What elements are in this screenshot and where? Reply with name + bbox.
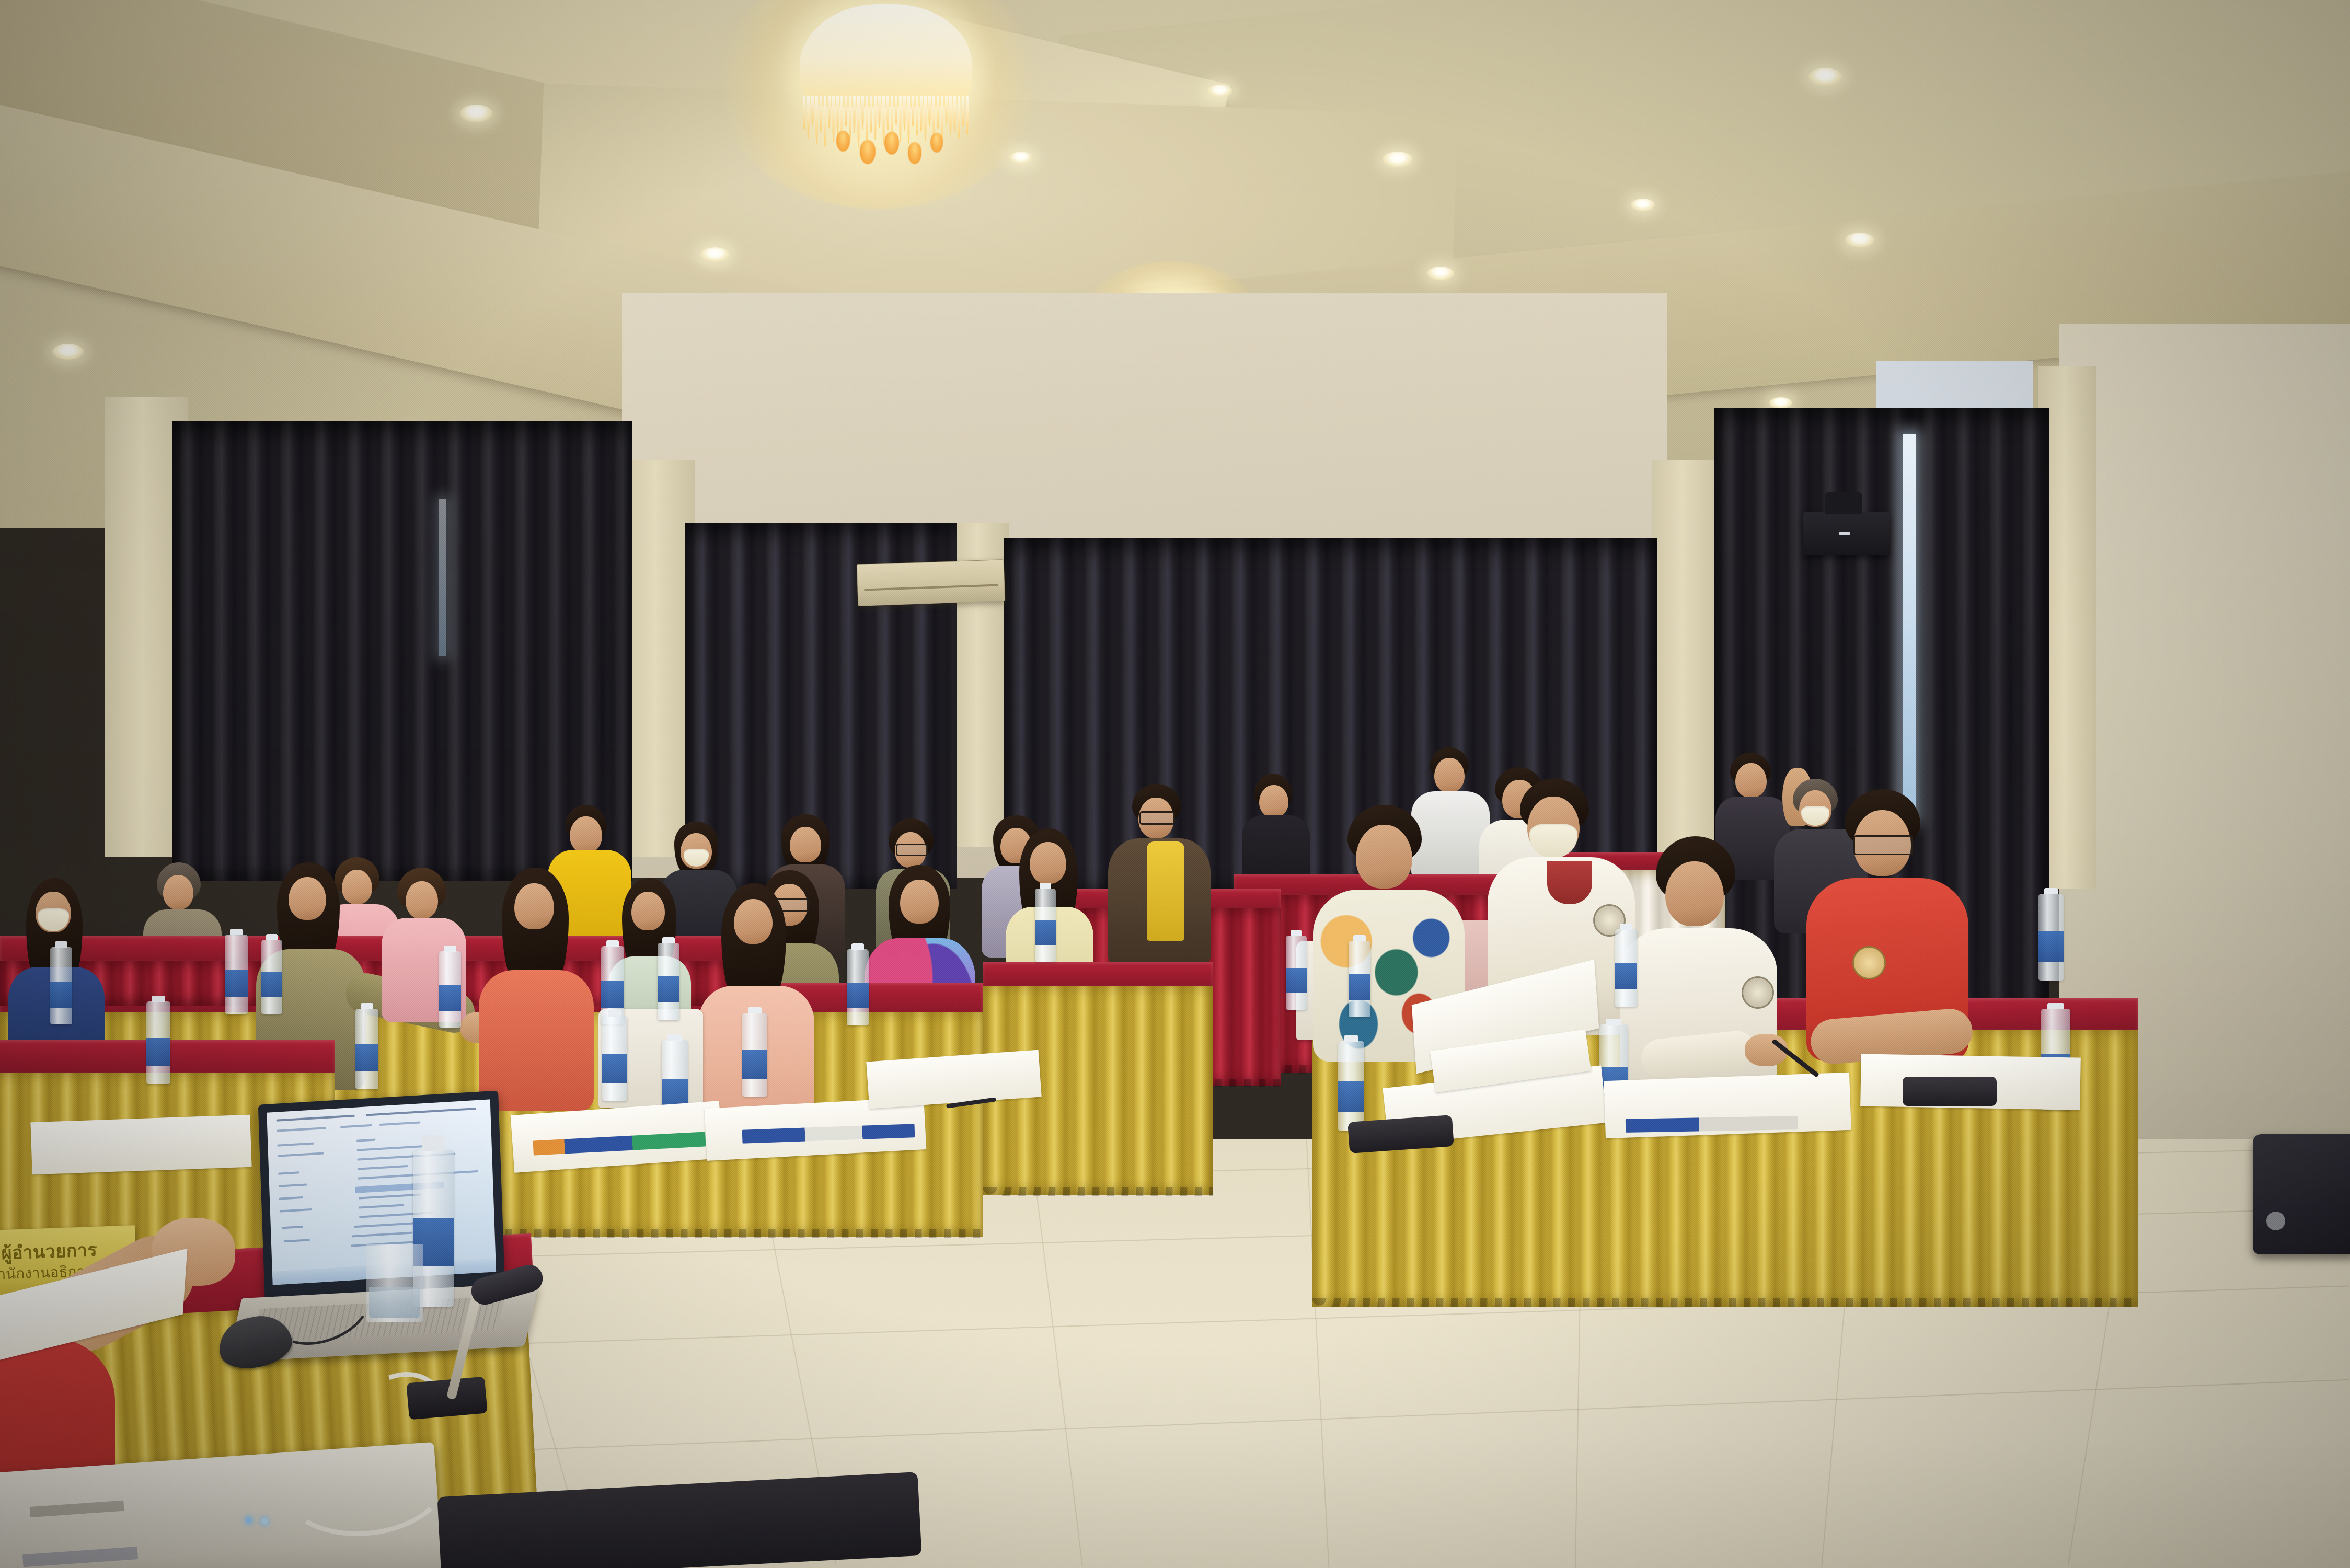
downlight-11	[1808, 68, 1842, 86]
doc-line	[284, 1239, 310, 1242]
wall-speaker	[1803, 512, 1890, 555]
doc-line	[359, 1204, 404, 1208]
downlight-16	[1207, 85, 1232, 97]
downlight-4	[700, 247, 730, 262]
phone-or-case[interactable]	[1903, 1077, 1997, 1106]
head	[900, 880, 939, 924]
bottle-label	[1286, 968, 1307, 993]
speaker-badge	[1839, 532, 1850, 535]
bottle-cap	[608, 1010, 622, 1017]
doc-line	[358, 1165, 408, 1170]
bottle-label	[1035, 920, 1056, 945]
downlight-12	[1845, 233, 1874, 247]
head	[1735, 763, 1767, 798]
water-bottle[interactable]	[1286, 936, 1307, 1010]
nameplate-line-1: ผู้อำนวยการ	[1, 1239, 98, 1265]
downlight-14	[1769, 397, 1792, 409]
bottle-label	[355, 1044, 378, 1071]
eyeglasses	[1139, 811, 1175, 825]
water-bottle[interactable]	[1349, 941, 1370, 1017]
table-top	[983, 962, 1213, 986]
bottle-cap	[361, 1003, 374, 1009]
bottle-label	[1615, 963, 1637, 989]
column-right	[1652, 460, 1720, 857]
bottle-label	[439, 985, 461, 1011]
bottle-label	[261, 972, 282, 997]
torso	[1411, 791, 1490, 880]
eyeglasses	[896, 844, 928, 856]
bottle-label	[1349, 974, 1370, 1000]
projector-status-led	[261, 1517, 268, 1525]
air-conditioner	[857, 559, 1006, 606]
bottle-label	[2038, 931, 2064, 962]
bottle-cap	[230, 929, 243, 935]
head	[514, 883, 554, 929]
ac-vent-slot	[864, 584, 998, 591]
bag-zipper-pull	[2266, 1212, 2285, 1230]
shirt-yellow	[1147, 841, 1184, 941]
doc-line	[356, 1139, 375, 1142]
downlight-1	[460, 105, 492, 122]
downlight-2	[52, 344, 84, 360]
speaker-mount-bracket	[1825, 492, 1862, 514]
water-bottle[interactable]	[225, 935, 248, 1014]
head	[406, 881, 438, 919]
meeting-room-photo: ผู้อำนวยการ สำนักงานอธิการบดี	[0, 0, 2350, 1568]
doc-line	[279, 1196, 303, 1200]
doc-line	[379, 1121, 420, 1126]
downlight-8	[1427, 267, 1454, 280]
head	[163, 875, 193, 909]
phone-or-case[interactable]	[406, 1377, 488, 1420]
bottle-cap	[1606, 1019, 1621, 1025]
bottle-cap	[606, 940, 619, 947]
chandelier-front-amber-3	[884, 132, 899, 155]
downlight-7	[1383, 152, 1413, 167]
chandelier-front-amber-4	[908, 142, 921, 164]
bottle-label	[658, 976, 679, 1002]
doc-line	[366, 1108, 476, 1116]
bottle-cap	[662, 937, 675, 943]
bottle-cap	[422, 1135, 445, 1151]
floor-bag[interactable]	[2253, 1134, 2350, 1254]
water-bottle[interactable]	[439, 951, 461, 1028]
bottle-cap	[1291, 930, 1302, 936]
water-bottle[interactable]	[1338, 1041, 1364, 1131]
chandelier-front-amber-1	[836, 131, 850, 152]
chandelier-front-amber-5	[930, 133, 943, 153]
projector-label	[22, 1547, 138, 1567]
bottle-cap	[266, 934, 278, 940]
doc-line	[277, 1115, 355, 1122]
water-bottle[interactable]	[50, 947, 72, 1024]
water-bottle[interactable]	[261, 940, 282, 1014]
table-skirt-scallop	[1312, 1298, 2138, 1307]
torso-uniform	[1620, 928, 1777, 1101]
head	[1030, 842, 1066, 884]
doc-line	[278, 1152, 324, 1157]
doc-line	[277, 1143, 314, 1147]
bottle-label	[601, 981, 624, 1008]
collar-red-inner	[1547, 861, 1592, 904]
bottle-cap	[851, 943, 864, 950]
column-mid-left	[622, 460, 695, 857]
bottle-cap	[2044, 888, 2058, 894]
water-bottle[interactable]	[658, 943, 679, 1020]
bottle-cap	[1353, 935, 1366, 941]
doc-line	[280, 1208, 312, 1213]
downlight-13	[1631, 199, 1655, 211]
torso	[479, 970, 594, 1111]
meeting-papers[interactable]	[30, 1115, 251, 1175]
head	[790, 827, 821, 862]
water-bottle[interactable]	[1615, 929, 1637, 1007]
water-bottle[interactable]	[355, 1009, 378, 1089]
head	[1356, 825, 1412, 889]
doc-line	[282, 1226, 303, 1229]
drinking-glass[interactable]	[366, 1244, 423, 1322]
doc-line	[359, 1193, 421, 1199]
bottle-cap	[2047, 1003, 2064, 1009]
head	[289, 877, 326, 920]
bottle-label	[1338, 1081, 1364, 1112]
bottle-cap	[748, 1007, 762, 1013]
bottle-label	[146, 1038, 170, 1066]
curtain-left	[172, 421, 632, 881]
doc-line	[278, 1171, 299, 1174]
table-skirt-scallop	[983, 1187, 1213, 1196]
doc-line	[352, 1232, 413, 1238]
water-bottle[interactable]	[146, 1001, 170, 1084]
head	[734, 899, 773, 944]
bottle-cap	[152, 996, 165, 1002]
eyeglasses	[1853, 835, 1913, 855]
water-bottle[interactable]	[1035, 889, 1056, 962]
uniform-emblem	[1742, 976, 1774, 1009]
head	[1665, 861, 1724, 926]
bottle-cap	[1040, 883, 1051, 889]
bottle-label	[602, 1054, 627, 1083]
head	[570, 816, 602, 853]
water-bottle[interactable]	[847, 949, 869, 1025]
doc-line	[279, 1183, 307, 1187]
bottle-cap	[1620, 924, 1632, 930]
projector-vent	[30, 1501, 124, 1518]
chandelier-front-amber-2	[860, 140, 876, 164]
bottle-label	[225, 970, 248, 997]
glass-water	[369, 1287, 420, 1318]
water-bottle[interactable]	[602, 1016, 627, 1101]
doc-line	[277, 1127, 326, 1132]
head	[1434, 758, 1465, 792]
bottle-cap	[444, 946, 456, 952]
projector-power-led	[245, 1517, 252, 1524]
water-bottle[interactable]	[2038, 894, 2064, 981]
water-bottle[interactable]	[742, 1013, 767, 1097]
bottle-label	[847, 983, 869, 1008]
doc-line	[340, 1124, 372, 1128]
head	[1259, 785, 1288, 817]
head	[631, 892, 665, 930]
bottle-label	[742, 1050, 767, 1079]
head	[342, 870, 372, 904]
bottle-cap	[667, 1034, 682, 1041]
window-light-gap	[1903, 434, 1916, 821]
polo-badge	[1852, 946, 1886, 979]
window-light-gap-2	[439, 499, 446, 656]
bottle-label	[50, 982, 72, 1008]
bottle-cap	[55, 941, 67, 948]
bottle-cap	[1344, 1035, 1358, 1042]
